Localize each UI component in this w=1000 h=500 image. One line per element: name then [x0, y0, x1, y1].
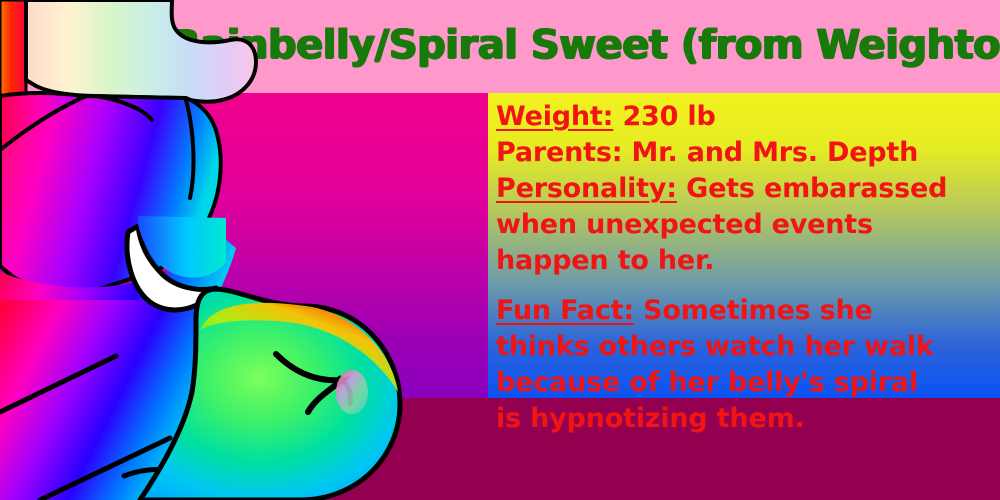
info-panel-background — [488, 93, 1000, 398]
hair — [26, 0, 256, 102]
illustration-canvas: Rainbelly/Spiral Sweet (from Weightopia) — [0, 0, 1000, 500]
navel-spiral-swatch — [336, 370, 368, 414]
character-illustration — [0, 0, 420, 500]
